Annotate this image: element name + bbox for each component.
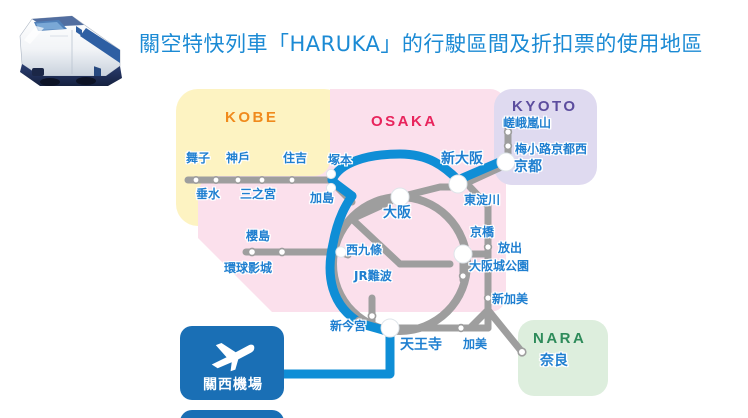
- station-label-umekoji: 梅小路京都西: [515, 143, 587, 155]
- region-label-nara: NARA: [533, 330, 586, 347]
- dot-nishikujo: [336, 247, 346, 257]
- station-label-tarumi: 垂水: [196, 188, 220, 200]
- station-label-tsukamoto: 塚本: [328, 154, 352, 166]
- station-label-kashima: 加島: [310, 192, 334, 204]
- station-label-maiko: 舞子: [186, 152, 210, 164]
- station-label-kyoto: 京都: [514, 160, 542, 174]
- station-label-sakurajima: 櫻島: [246, 230, 270, 242]
- region-label-kobe: KOBE: [225, 109, 278, 126]
- station-label-sumiyoshi: 住吉: [283, 152, 307, 164]
- haruka-train-photo: [10, 6, 128, 90]
- station-label-saga-arashiyama: 嵯峨嵐山: [503, 117, 551, 129]
- station-label-jr-namba: JR難波: [354, 270, 392, 282]
- airplane-icon: [206, 336, 258, 372]
- region-label-kyoto: KYOTO: [512, 98, 578, 115]
- dot-shin-osaka: [449, 175, 467, 193]
- station-label-nishikujo: 西九條: [346, 244, 382, 256]
- station-label-osakajokoen: 大阪城公園: [469, 260, 529, 272]
- dot-kyoto: [497, 153, 515, 171]
- airport-box: [180, 410, 284, 418]
- station-label-kyobashi: 京橋: [470, 226, 494, 238]
- route-map: 關西機場 KOBE OSAKA KYOTO NARA 舞子 神戶 住吉 垂水 三…: [0, 84, 748, 418]
- dot-tsukamoto: [326, 169, 335, 178]
- station-label-higashi-yodogawa: 東淀川: [464, 194, 500, 206]
- dot-tennoji: [381, 319, 399, 337]
- station-label-hanaten: 放出: [498, 242, 522, 254]
- dot-osaka: [391, 188, 409, 206]
- station-label-tennoji: 天王寺: [400, 338, 442, 352]
- screenshot-root: 關空特快列車「HARUKA」的行駛區間及折扣票的使用地區: [0, 0, 748, 418]
- station-label-universal-city: 環球影城: [224, 262, 272, 274]
- station-label-shin-osaka: 新大阪: [441, 152, 483, 166]
- station-label-sannomiya: 三之宮: [240, 188, 276, 200]
- station-label-kami: 加美: [463, 338, 487, 350]
- station-label-kobe: 神戶: [226, 152, 250, 164]
- region-label-osaka: OSAKA: [371, 113, 438, 130]
- station-label-nara: 奈良: [540, 354, 568, 368]
- station-label-shin-kami: 新加美: [492, 293, 528, 305]
- station-label-osaka: 大阪: [383, 206, 411, 220]
- airport-label: 關西機場: [192, 374, 274, 394]
- page-title: 關空特快列車「HARUKA」的行駛區間及折扣票的使用地區: [139, 28, 703, 58]
- station-label-shin-imamiya: 新今宮: [330, 320, 366, 332]
